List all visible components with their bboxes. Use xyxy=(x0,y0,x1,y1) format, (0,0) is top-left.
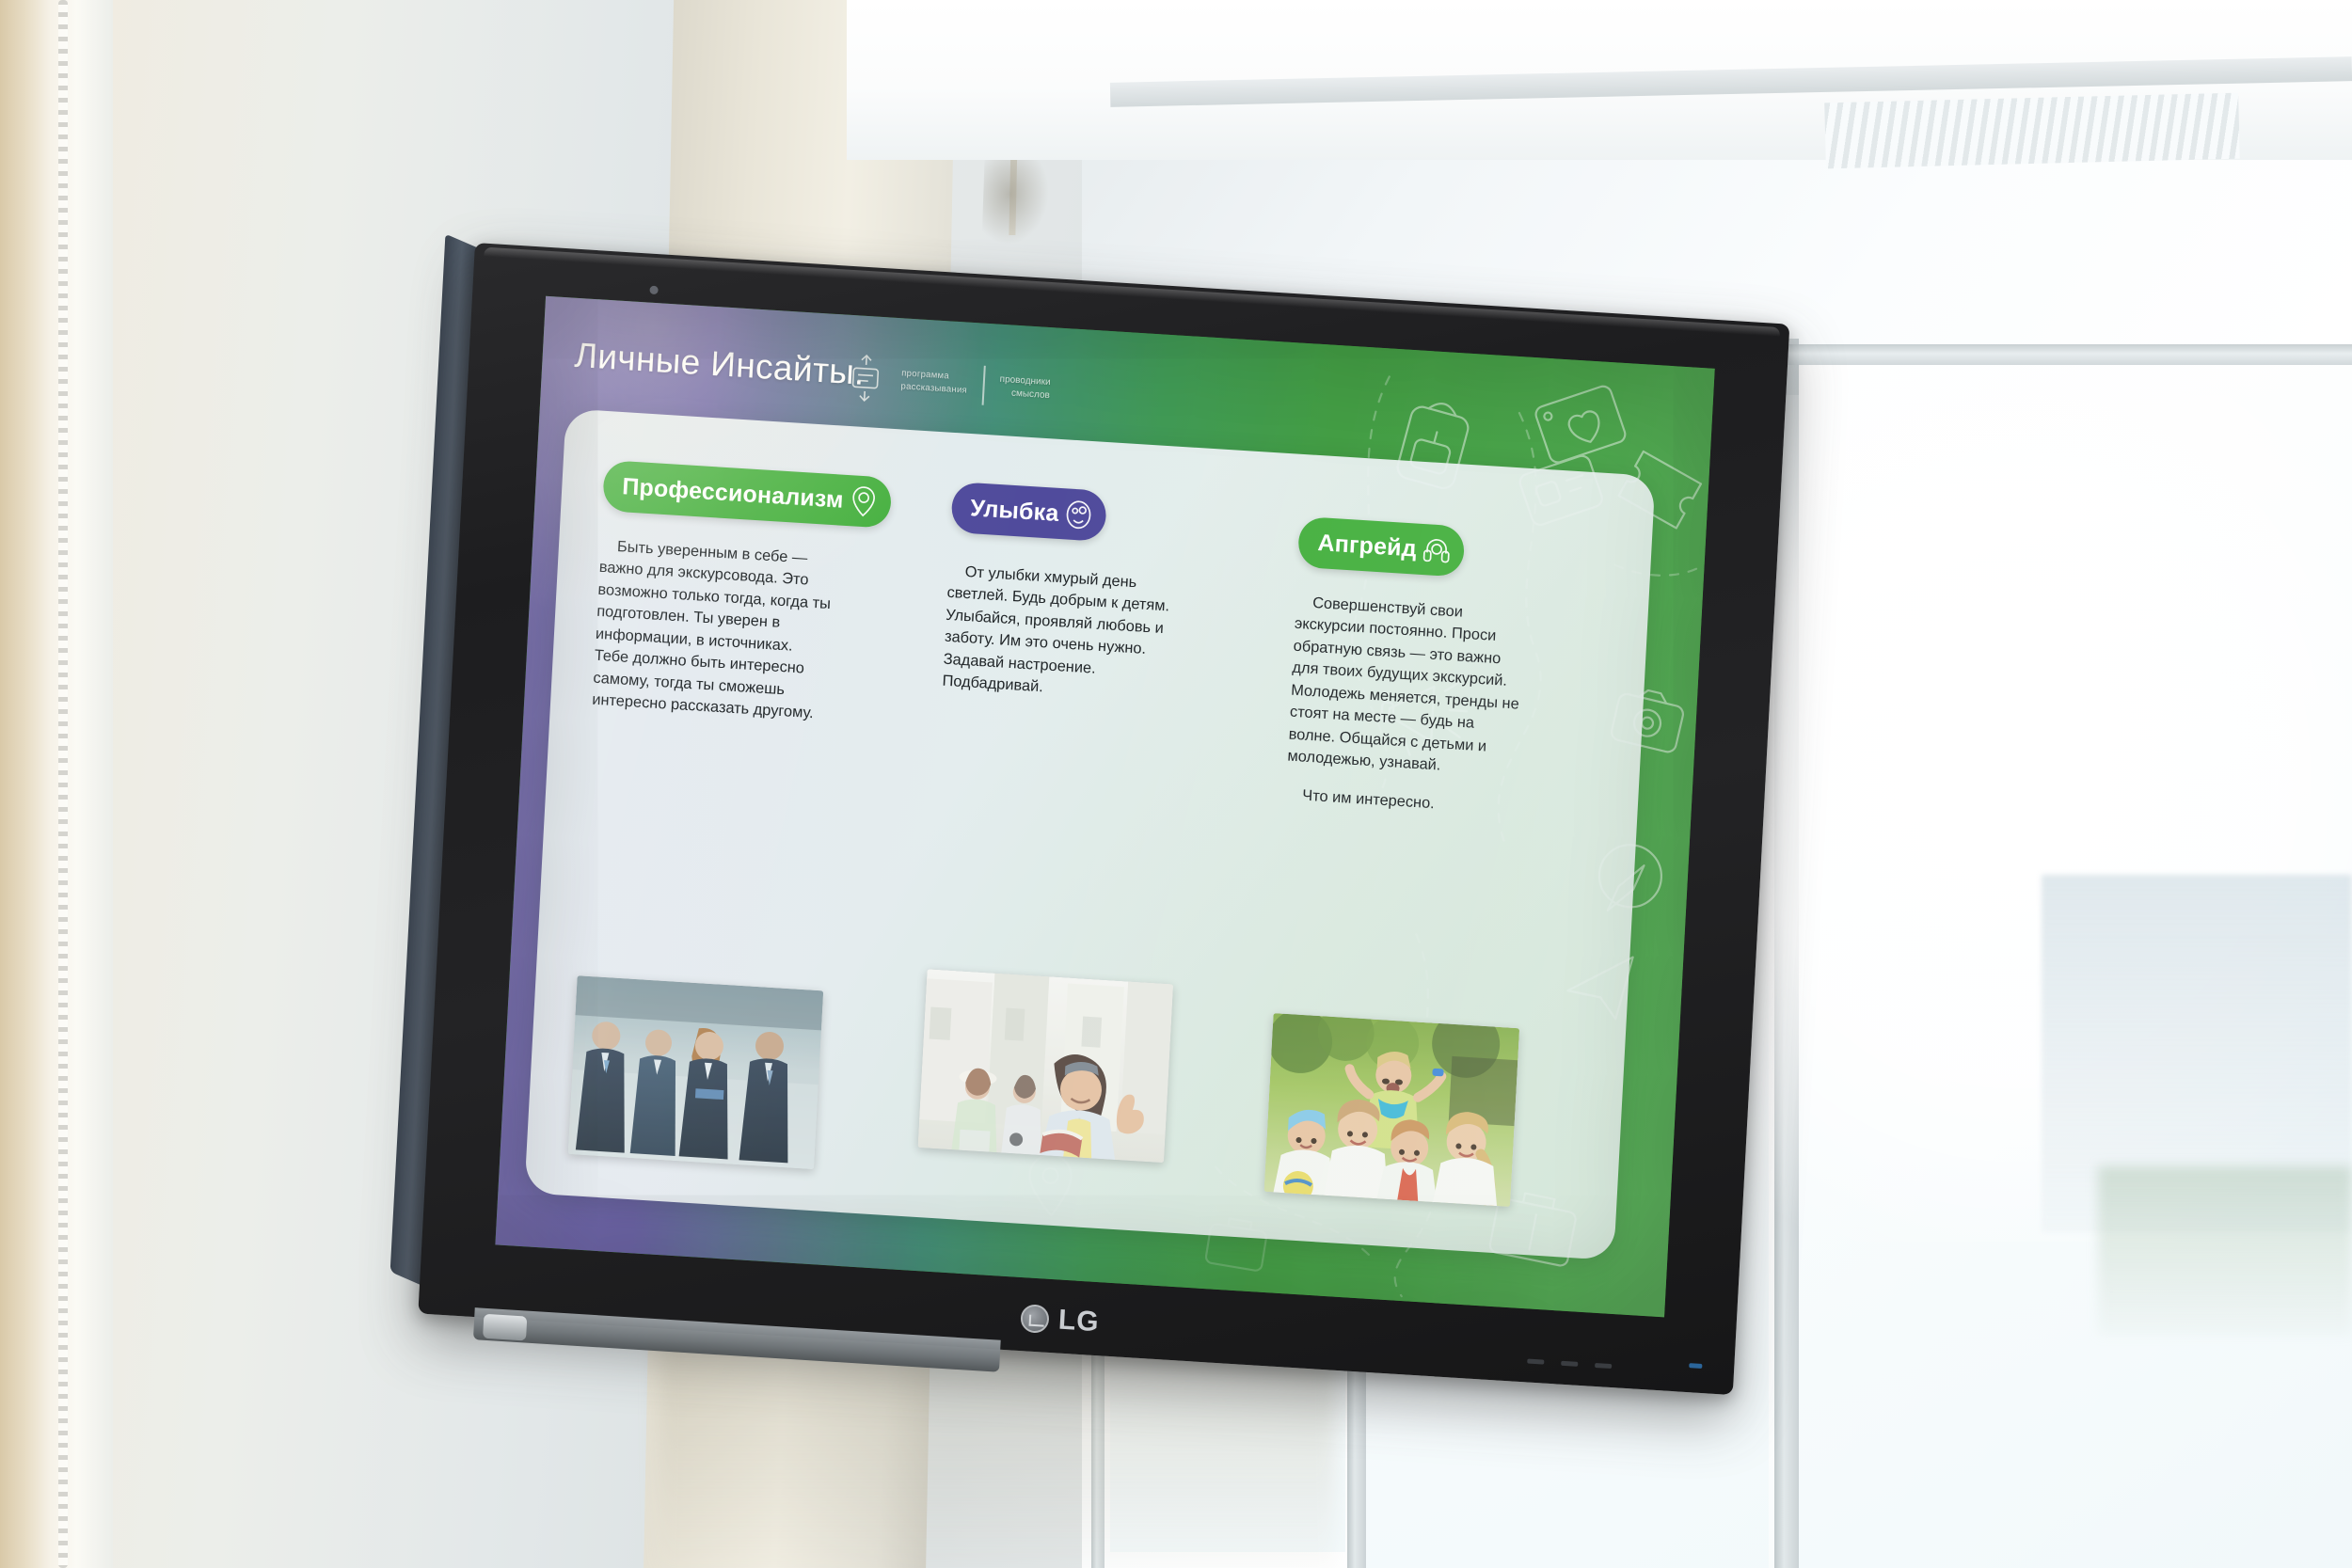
headphones-icon xyxy=(1422,533,1452,567)
tv-control-button[interactable] xyxy=(1561,1361,1578,1367)
location-pin-icon xyxy=(849,484,879,518)
brand-left-text: программа рассказывания xyxy=(900,368,968,398)
columns-grid: Профессионализм Быть уверенным в себе — … xyxy=(524,408,1655,1260)
brand-arrow-icon xyxy=(844,353,888,404)
brand-left-line-2: рассказывания xyxy=(900,380,967,397)
body-upgrade: Совершенствуй свои экскурсии постоянно. … xyxy=(1285,592,1532,820)
pillar-scuff xyxy=(981,160,1050,245)
column-smile: Улыбка От улыбки хмурый день светлей. Бу… xyxy=(915,482,1263,1198)
body-smile: От улыбки хмурый день светлей. Будь добр… xyxy=(942,561,1184,707)
body-upgrade-para-1: Совершенствуй свои экскурсии постоянно. … xyxy=(1287,594,1519,774)
photo-business-team-graphic xyxy=(568,975,824,1169)
tv-control-button[interactable] xyxy=(1595,1363,1612,1369)
pill-professionalism[interactable]: Профессионализм xyxy=(602,460,892,529)
tv-control-buttons[interactable] xyxy=(1527,1358,1612,1369)
lg-brand-logo: LG xyxy=(1020,1302,1100,1338)
column-professionalism: Профессионализм Быть уверенным в себе — … xyxy=(567,460,915,1177)
room-scene: Личные Инсайты. программа рассказывания xyxy=(0,0,2352,1568)
body-upgrade-para-2: Что им интересно. xyxy=(1285,784,1521,820)
pill-label: Профессионализм xyxy=(622,473,845,515)
outside-foliage xyxy=(2098,1166,2352,1336)
tv-bezel: Личные Инсайты. программа рассказывания xyxy=(418,243,1789,1395)
pill-smile[interactable]: Улыбка xyxy=(950,482,1107,542)
ceiling-vent xyxy=(1824,93,2240,169)
photo-business-team xyxy=(568,975,824,1169)
lg-logo-text: LG xyxy=(1057,1305,1100,1339)
lg-display[interactable]: Личные Инсайты. программа рассказывания xyxy=(418,243,1789,1395)
power-led-icon xyxy=(1689,1363,1702,1369)
brand-right-line-2: смыслов xyxy=(999,387,1051,404)
window-blind-left xyxy=(0,0,113,1568)
body-professionalism: Быть уверенным в себе — важно для экскур… xyxy=(592,535,836,726)
content-card: Профессионализм Быть уверенным в себе — … xyxy=(524,408,1655,1260)
tv-control-button[interactable] xyxy=(1527,1358,1544,1364)
column-upgrade: Апгрейд Совершенствуй свои экскурсии пос… xyxy=(1263,503,1612,1220)
brand-right-text: проводники смыслов xyxy=(999,372,1051,403)
photo-youth-camp xyxy=(1264,1013,1520,1207)
pill-label: Апгрейд xyxy=(1317,530,1418,562)
ir-sensor-icon xyxy=(649,286,658,295)
lg-logo-mark-icon xyxy=(1020,1304,1050,1334)
photo-smiling-guide-graphic xyxy=(917,969,1173,1163)
smiley-face-icon xyxy=(1064,498,1094,531)
tv-mount-bolt xyxy=(483,1314,527,1341)
photo-youth-camp-graphic xyxy=(1264,1013,1520,1207)
brand-divider xyxy=(981,366,985,405)
pill-upgrade[interactable]: Апгрейд xyxy=(1297,516,1465,578)
pill-label: Улыбка xyxy=(970,495,1060,528)
screen[interactable]: Личные Инсайты. программа рассказывания xyxy=(495,296,1714,1318)
blind-chain xyxy=(58,0,68,1568)
photo-smiling-guide xyxy=(917,969,1173,1163)
